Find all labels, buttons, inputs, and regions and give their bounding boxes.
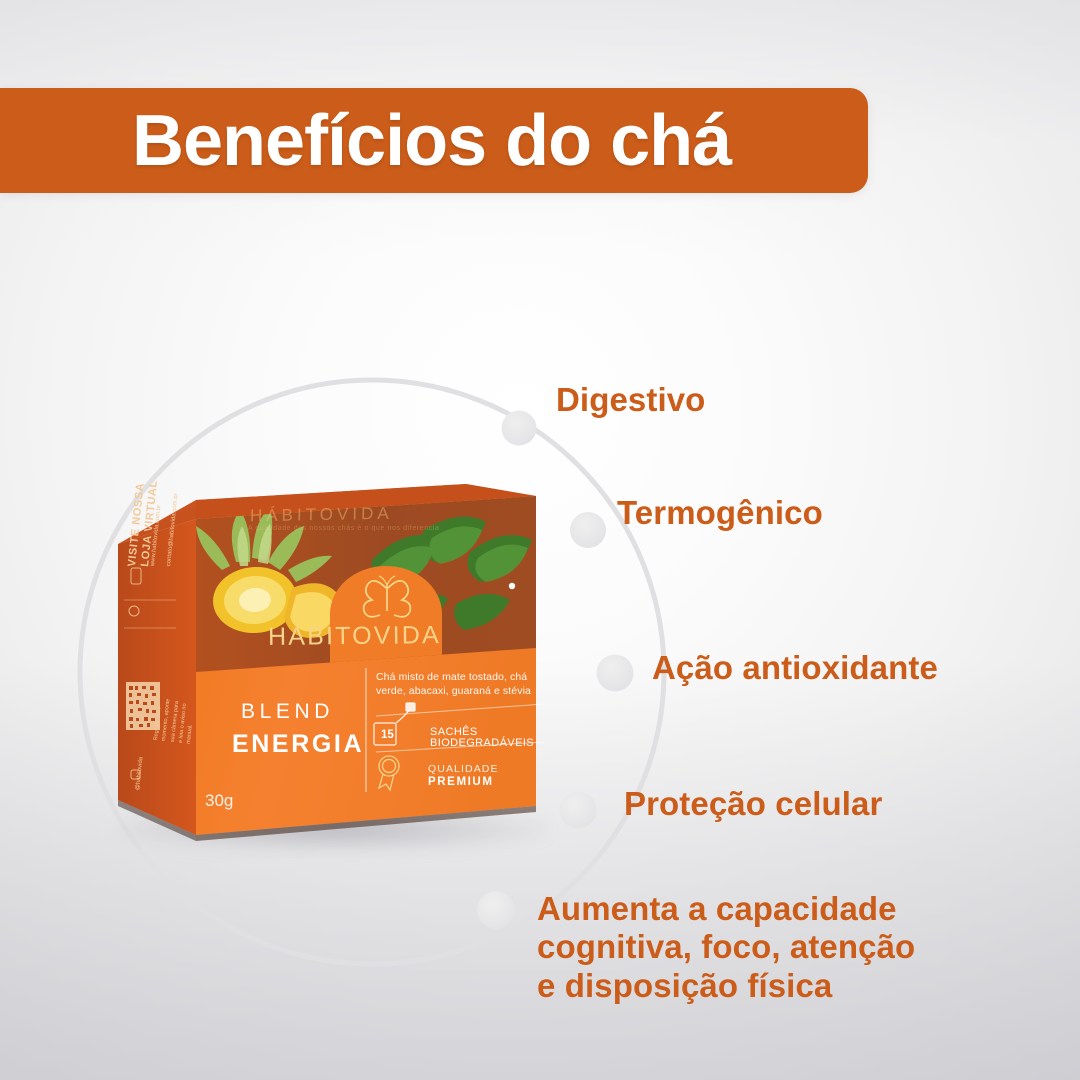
benefit-label-protecao-celular: Proteção celular — [624, 786, 882, 823]
poster-canvas: Benefícios do chá — [0, 0, 1080, 1080]
benefit-label-capacidade-cognitiva: Aumenta a capacidade cognitiva, foco, at… — [537, 890, 967, 1005]
package-weight: 30g — [205, 791, 233, 811]
package-quality-line2: PREMIUM — [428, 776, 494, 788]
package-sachets-line2: BIODEGRADÁVEIS — [430, 737, 534, 749]
package-sachet-count: 15 — [381, 729, 394, 741]
benefit-label-acao-antioxidante: Ação antioxidante — [652, 650, 938, 687]
benefit-label-line-1: Aumenta a capacidade — [537, 890, 967, 928]
benefit-label-digestivo: Digestivo — [556, 382, 705, 419]
package-blend-label: BLEND — [241, 700, 334, 724]
package-topface-logo: HÁBITOVIDA — [250, 504, 393, 526]
benefit-label-line-2: cognitiva, foco, atenção — [537, 928, 967, 966]
package-quality-line1: QUALIDADE — [428, 763, 499, 775]
package-side-qr-note: Registre esse momento, aponte sua câmera… — [152, 696, 198, 744]
benefit-label-line-3: e disposição física — [537, 967, 967, 1005]
package-topface-subtitle: A qualidade dos nossos chás é o que nos … — [248, 525, 440, 532]
benefit-label-termogenico: Termogênico — [617, 495, 823, 532]
package-brand-name: HÁBITOVIDA — [268, 621, 441, 652]
package-description: Chá misto de mate tostado, chá verde, ab… — [376, 671, 544, 699]
package-variant-name: ENERGIA — [232, 730, 364, 759]
